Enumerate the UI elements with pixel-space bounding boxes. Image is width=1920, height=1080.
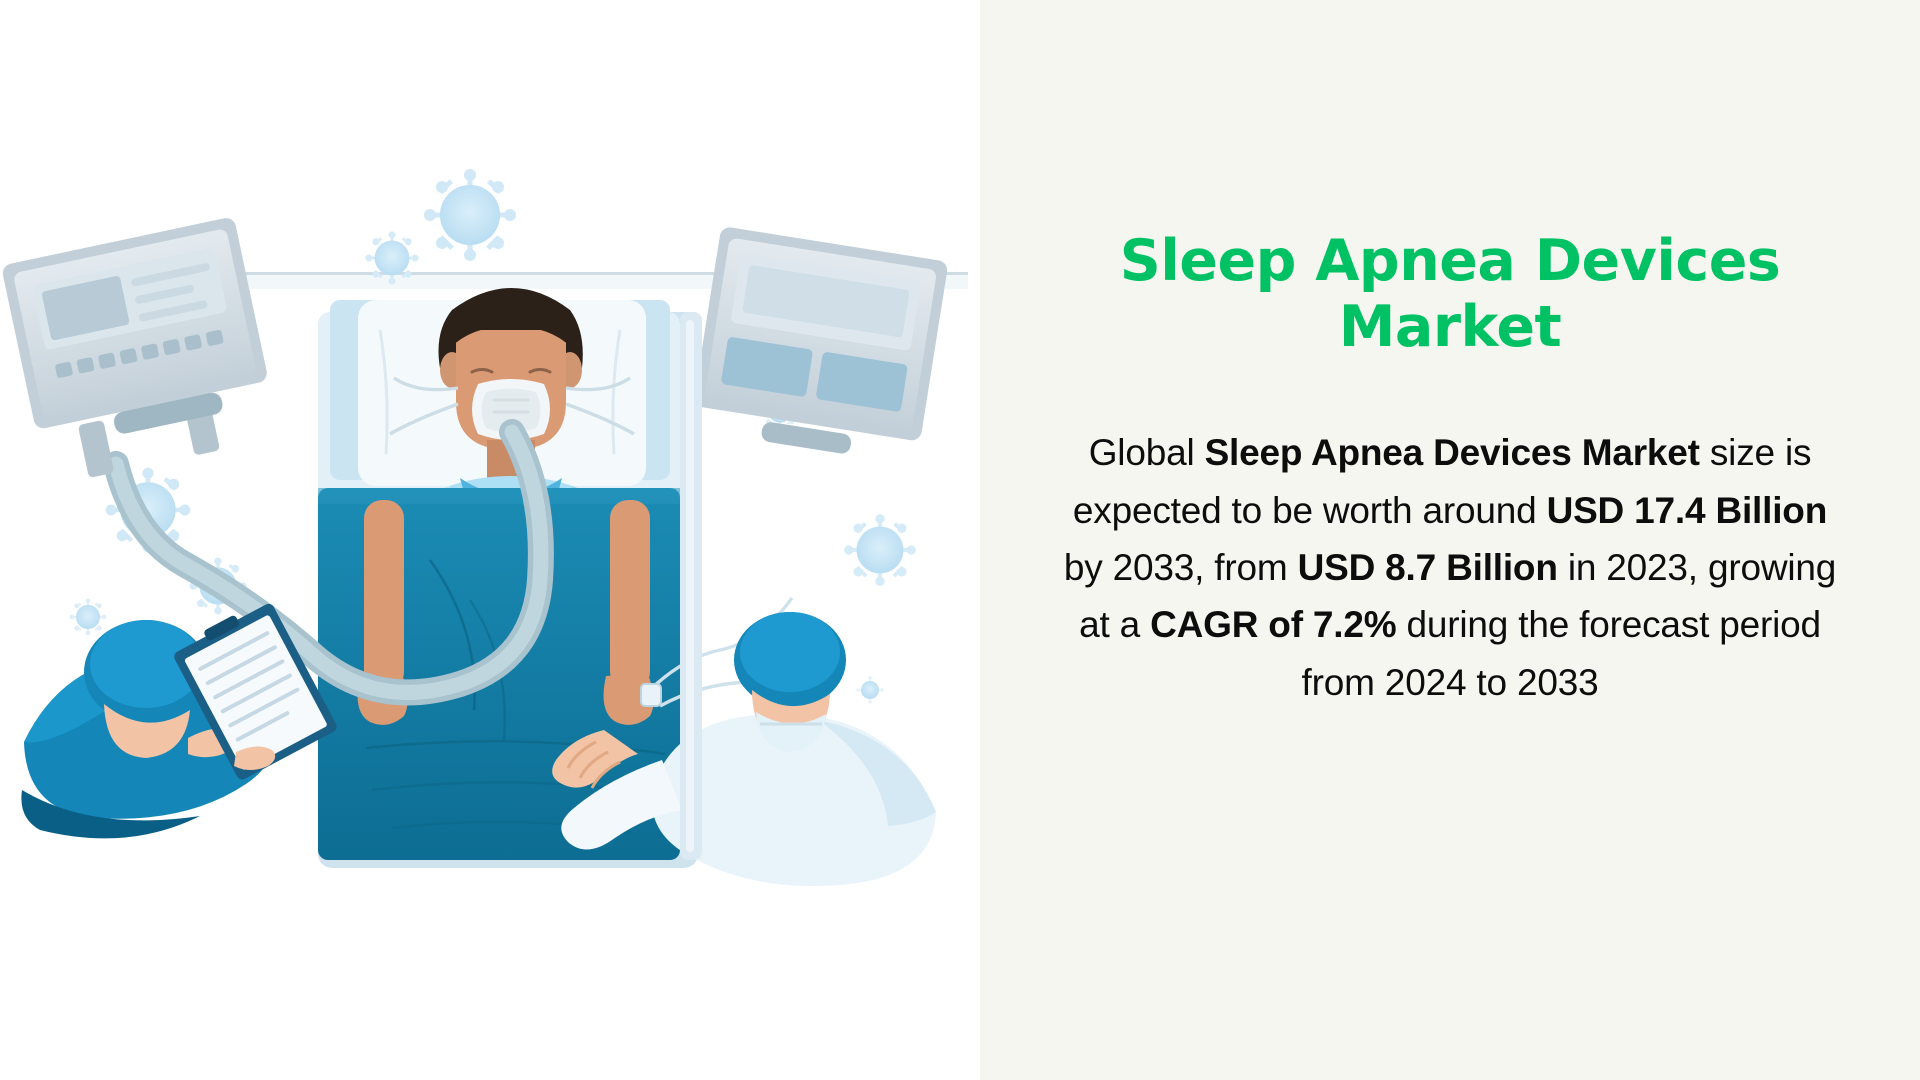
sleep-apnea-patient-illustration xyxy=(0,0,980,1080)
page-title: Sleep Apnea Devices Market xyxy=(1050,228,1850,360)
headline-line-2: Market xyxy=(1339,294,1562,360)
illustration-stage xyxy=(0,0,980,1080)
segment-3: USD 17.4 Billion xyxy=(1547,490,1828,531)
infographic-canvas: Sleep Apnea Devices Market Global Sleep … xyxy=(0,0,1920,1080)
text-content: Sleep Apnea Devices Market Global Sleep … xyxy=(1050,228,1850,711)
headline-line-1: Sleep Apnea Devices xyxy=(1120,228,1781,294)
segment-4: by 2033, from xyxy=(1064,547,1298,588)
market-summary-paragraph: Global Sleep Apnea Devices Market size i… xyxy=(1050,424,1850,711)
segment-7: CAGR of 7.2% xyxy=(1150,604,1396,645)
text-panel: Sleep Apnea Devices Market Global Sleep … xyxy=(980,0,1920,1080)
illustration-panel xyxy=(0,0,980,1080)
segment-5: USD 8.7 Billion xyxy=(1298,547,1558,588)
segment-1: Sleep Apnea Devices Market xyxy=(1205,432,1700,473)
segment-0: Global xyxy=(1089,432,1205,473)
bed-side-rail xyxy=(680,312,702,860)
